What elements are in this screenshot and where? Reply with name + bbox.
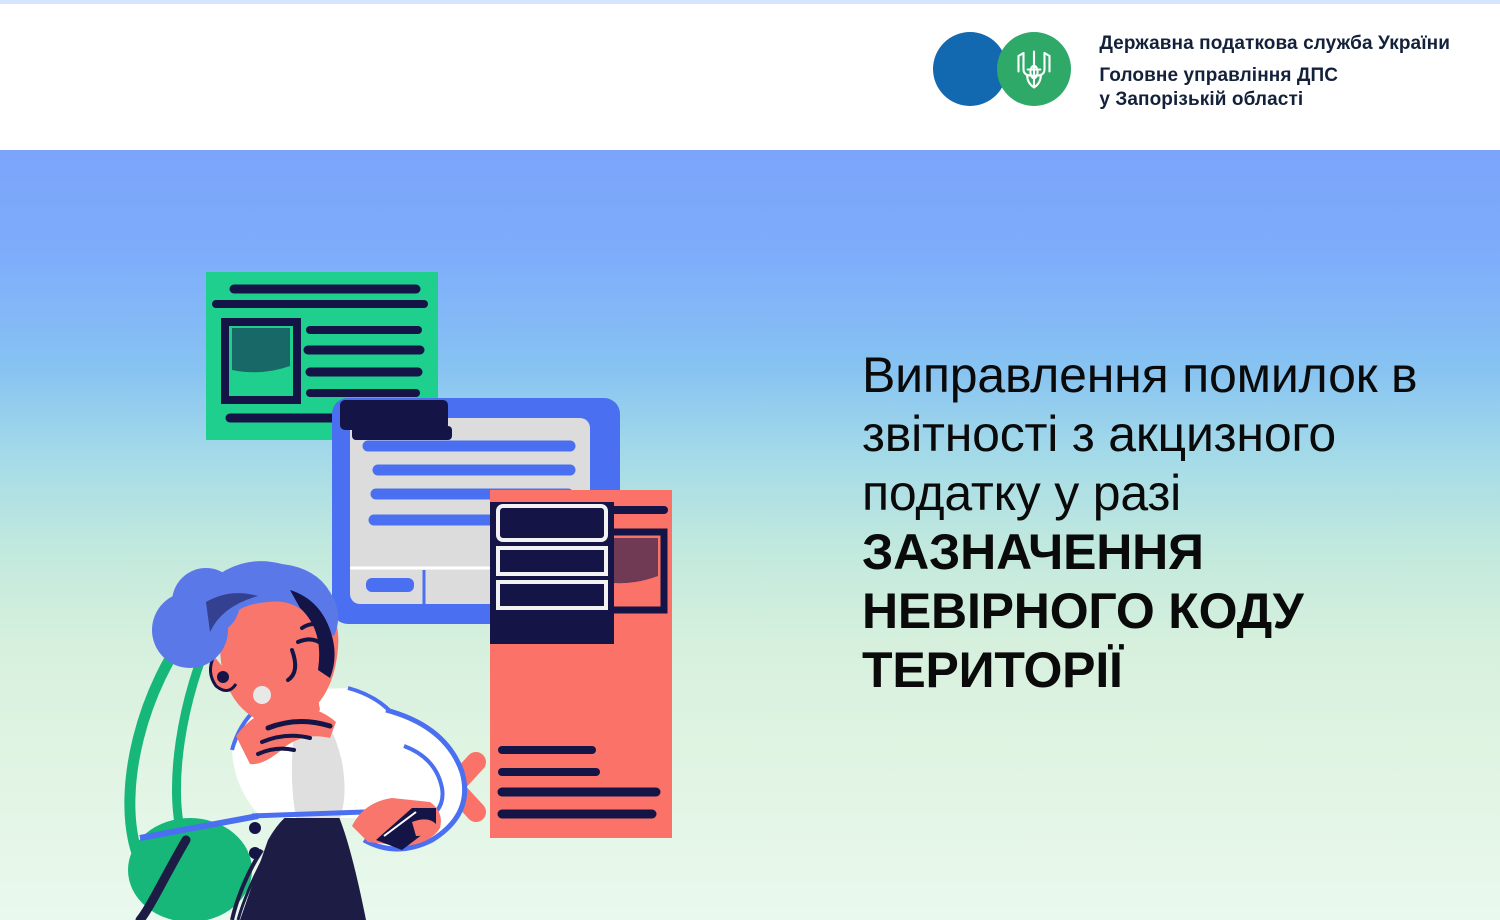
logo-blue-circle	[933, 32, 1007, 106]
hero-canvas: Виправлення помилок в звітності з акцизн…	[0, 150, 1500, 920]
dark-binder	[490, 502, 614, 644]
brand-title-line-1: Державна податкова служба України	[1099, 32, 1450, 55]
brand-text: Державна податкова служба України Головн…	[1099, 28, 1450, 113]
coral-document-card	[490, 490, 672, 838]
hero-illustration	[0, 150, 820, 920]
logo-marks	[933, 28, 1081, 108]
tryzub-icon	[997, 32, 1071, 106]
infographic-page: Державна податкова служба України Головн…	[0, 0, 1500, 920]
brand-block: Державна податкова служба України Головн…	[933, 28, 1450, 113]
illustration-svg	[0, 150, 820, 920]
site-header: Державна податкова служба України Головн…	[0, 4, 1500, 150]
headline-bold: ЗАЗНАЧЕННЯ НЕВІРНОГО КОДУ ТЕРИТОРІЇ	[862, 523, 1482, 700]
headline-block: Виправлення помилок в звітності з акцизн…	[862, 346, 1482, 700]
brand-title-line-2: Головне управління ДПС	[1099, 64, 1450, 88]
button-top	[249, 822, 261, 834]
headline-regular: Виправлення помилок в звітності з акцизн…	[862, 346, 1482, 523]
button-bottom	[249, 847, 261, 859]
brand-title-line-3: у Запорізькій області	[1099, 88, 1450, 112]
